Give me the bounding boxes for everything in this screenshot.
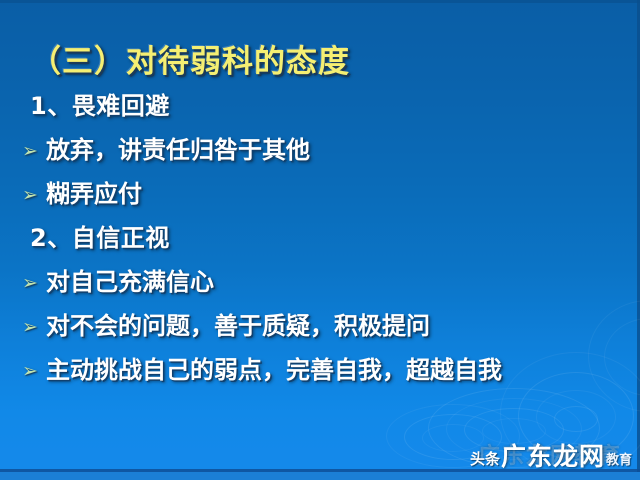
bullet-arrow-icon: ➢ — [22, 316, 46, 338]
list-item-text: 对不会的问题，善于质疑，积极提问 — [46, 306, 430, 341]
list-item-text: 放弃，讲责任归咎于其他 — [46, 130, 310, 165]
slide-body-list: 1、畏难回避 ➢ 放弃，讲责任归咎于其他 ➢ 糊弄应付 2、自信正视 ➢ 对自己… — [22, 86, 632, 394]
list-item-text: 糊弄应付 — [46, 174, 142, 209]
list-item: ➢ 主动挑战自己的弱点，完善自我，超越自我 — [22, 350, 632, 385]
list-item: ➢ 放弃，讲责任归咎于其他 — [22, 130, 632, 165]
watermark-category: 教育 — [606, 454, 632, 467]
list-item: ➢ 对自己充满信心 — [22, 262, 632, 297]
slide-top-edge — [0, 0, 640, 3]
list-item-text: 对自己充满信心 — [46, 262, 214, 297]
bullet-arrow-icon: ➢ — [22, 272, 46, 294]
slide-bottom-band — [0, 472, 640, 480]
watermark-platform: 头条 — [470, 452, 500, 467]
presentation-slide: （三）对待弱科的态度 1、畏难回避 ➢ 放弃，讲责任归咎于其他 ➢ 糊弄应付 2… — [0, 0, 640, 480]
slide-title: （三）对待弱科的态度 — [30, 36, 350, 81]
list-item: ➢ 糊弄应付 — [22, 174, 632, 209]
list-item-text: 2、自信正视 — [30, 218, 170, 253]
watermark: 头条 广东龙网 教育 — [470, 444, 632, 469]
watermark-brand: 广东龙网 — [501, 444, 605, 469]
list-item: 2、自信正视 — [22, 218, 632, 253]
bullet-arrow-icon: ➢ — [22, 140, 46, 162]
list-item: ➢ 对不会的问题，善于质疑，积极提问 — [22, 306, 632, 341]
list-item: 1、畏难回避 — [22, 86, 632, 121]
bullet-arrow-icon: ➢ — [22, 360, 46, 382]
list-item-text: 1、畏难回避 — [30, 86, 170, 121]
list-item-text: 主动挑战自己的弱点，完善自我，超越自我 — [46, 350, 502, 385]
bullet-arrow-icon: ➢ — [22, 184, 46, 206]
